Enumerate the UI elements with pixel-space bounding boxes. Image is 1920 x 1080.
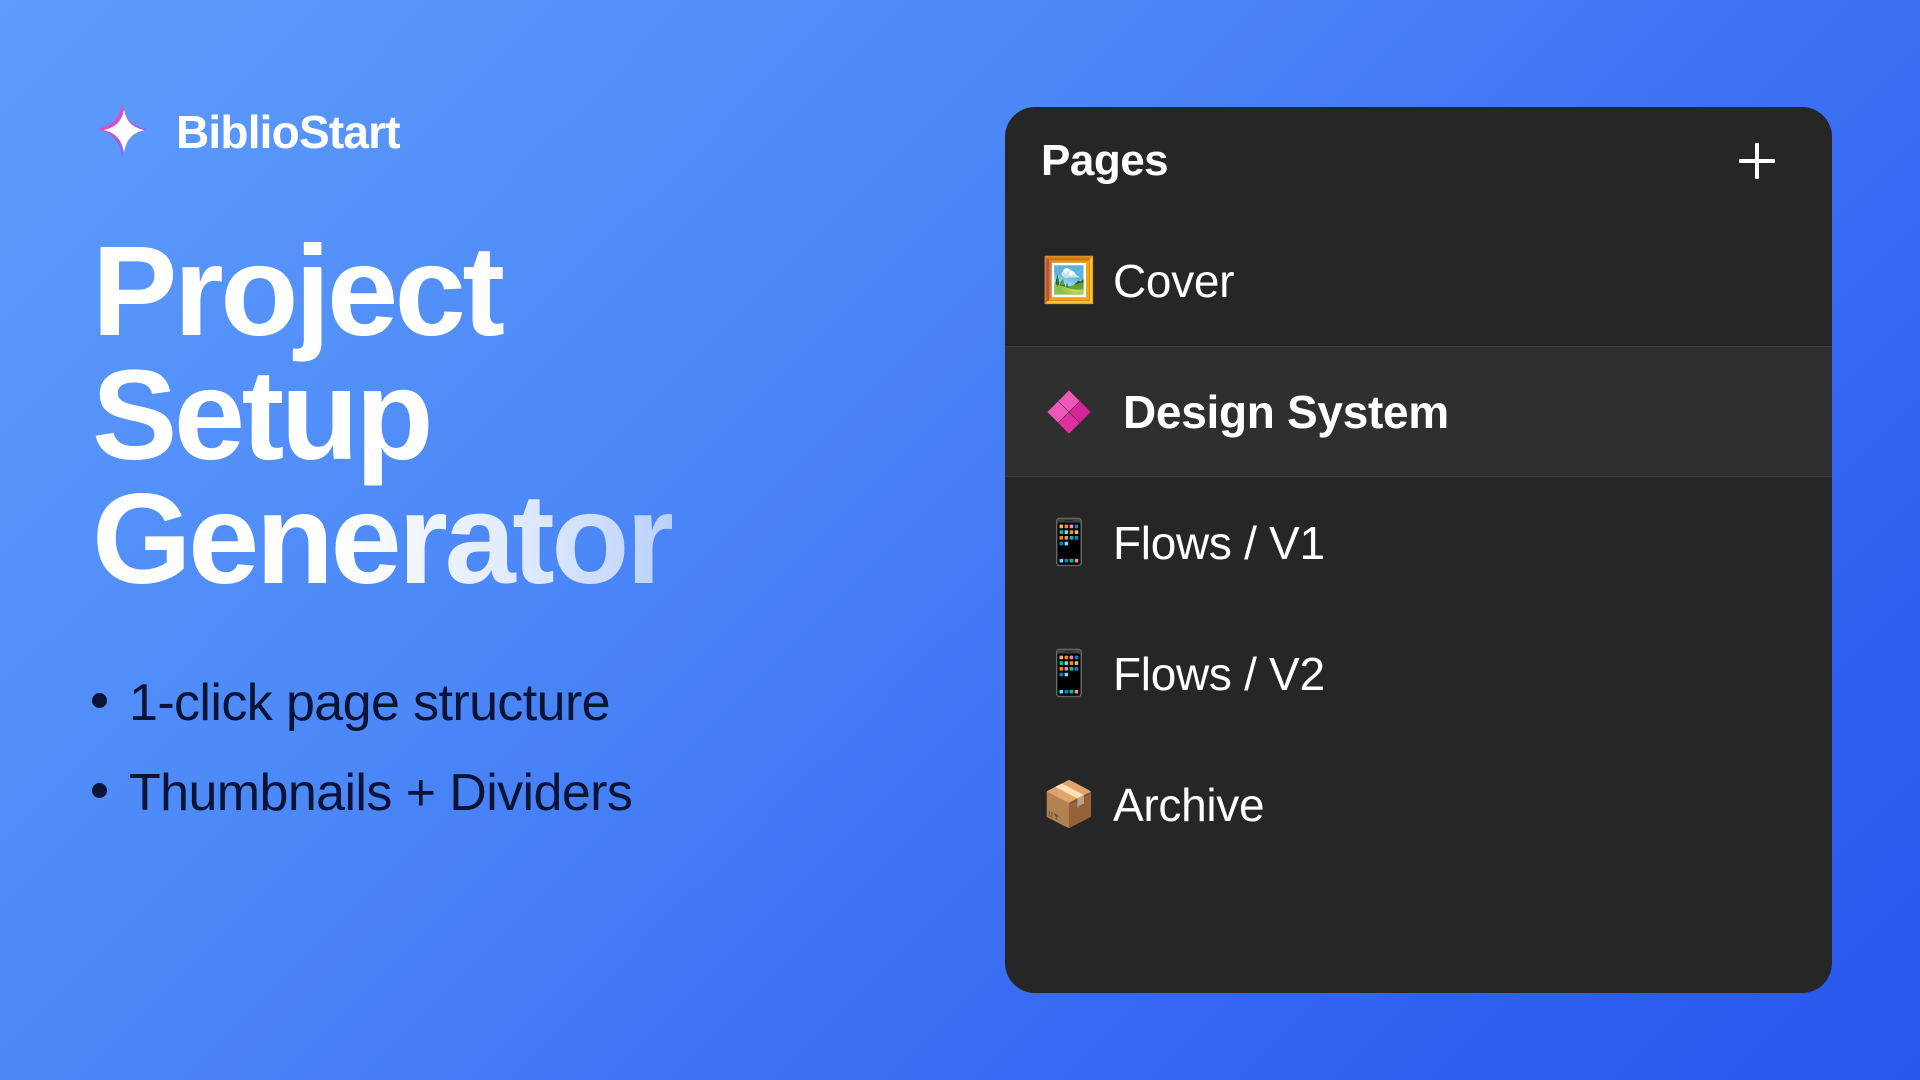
list-item-label: Cover: [1113, 254, 1234, 308]
bullet-label: 1-click page structure: [129, 676, 610, 731]
list-item-flows-v1[interactable]: 📱 Flows / V1: [1005, 477, 1832, 608]
pages-panel: Pages 🖼️ Cover Design System: [1005, 107, 1832, 993]
pink-diamonds-icon: [1041, 388, 1097, 436]
bullet-dot-icon: [92, 783, 107, 798]
framed-picture-icon: 🖼️: [1041, 259, 1097, 303]
list-item-label: Flows / V1: [1113, 516, 1325, 570]
list-item-cover[interactable]: 🖼️ Cover: [1005, 215, 1832, 346]
feature-bullet-list: 1-click page structure Thumbnails + Divi…: [92, 676, 952, 820]
brand-lockup: BiblioStart: [92, 96, 952, 168]
headline-line-3: Generator: [92, 478, 672, 602]
bullet-label: Thumbnails + Dividers: [129, 766, 632, 821]
headline-line-1: Project: [92, 230, 952, 354]
list-item-archive[interactable]: 📦 Archive: [1005, 739, 1832, 870]
list-item: Thumbnails + Dividers: [92, 766, 952, 821]
plus-icon[interactable]: [1734, 138, 1780, 184]
pages-panel-title: Pages: [1041, 136, 1168, 186]
list-item-label: Design System: [1123, 385, 1449, 439]
headline-line-2: Setup: [92, 354, 952, 478]
list-item: 1-click page structure: [92, 676, 952, 731]
mobile-phone-icon: 📱: [1041, 652, 1097, 696]
package-box-icon: 📦: [1041, 783, 1097, 827]
pages-panel-header: Pages: [1005, 107, 1832, 215]
page-title: Project Setup Generator: [92, 230, 952, 602]
bullet-dot-icon: [92, 693, 107, 708]
brand-name: BiblioStart: [176, 109, 400, 155]
list-item-label: Flows / V2: [1113, 647, 1325, 701]
list-item-design-system[interactable]: Design System: [1005, 346, 1832, 477]
promo-banner: BiblioStart Project Setup Generator 1-cl…: [0, 0, 1920, 1080]
pages-list: 🖼️ Cover Design System 📱 Flows / V1: [1005, 215, 1832, 993]
left-content-panel: BiblioStart Project Setup Generator 1-cl…: [92, 96, 952, 855]
list-item-flows-v2[interactable]: 📱 Flows / V2: [1005, 608, 1832, 739]
sparkle-star-icon: [92, 101, 154, 163]
list-item-label: Archive: [1113, 778, 1264, 832]
mobile-phone-icon: 📱: [1041, 521, 1097, 565]
